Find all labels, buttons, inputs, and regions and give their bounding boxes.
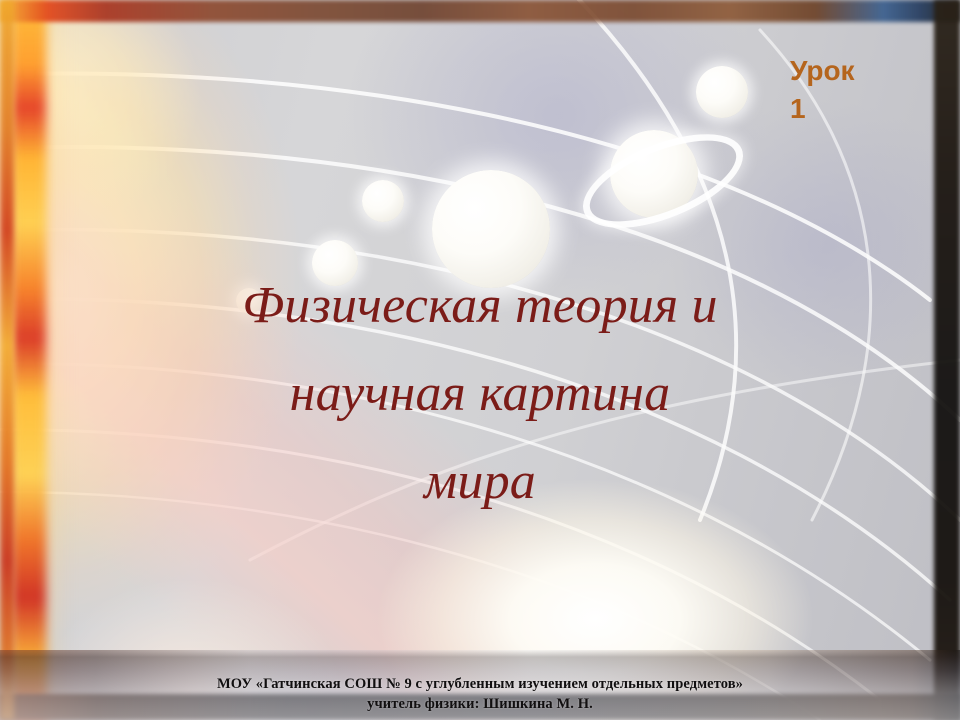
frame-band-right: [934, 0, 960, 720]
flame-stripe: [12, 0, 46, 720]
presentation-slide: Урок 1 Физическая теория и научная карти…: [0, 0, 960, 720]
slide-title-line-1: Физическая теория и: [70, 262, 890, 350]
footer-teacher-name: учитель физики: Шишкина М. Н.: [0, 694, 960, 714]
footer-credits: МОУ «Гатчинская СОШ № 9 с углубленным из…: [0, 674, 960, 714]
lesson-label: Урок: [790, 55, 855, 86]
slide-title-line-3: мира: [70, 438, 890, 526]
frame-band-top: [0, 0, 960, 22]
lesson-number-badge: Урок 1: [790, 52, 910, 128]
slide-title: Физическая теория и научная картина мира: [70, 262, 890, 526]
slide-title-line-2: научная картина: [70, 350, 890, 438]
footer-school-name: МОУ «Гатчинская СОШ № 9 с углубленным из…: [0, 674, 960, 694]
frame-band-left: [0, 0, 14, 720]
lesson-number: 1: [790, 93, 806, 124]
